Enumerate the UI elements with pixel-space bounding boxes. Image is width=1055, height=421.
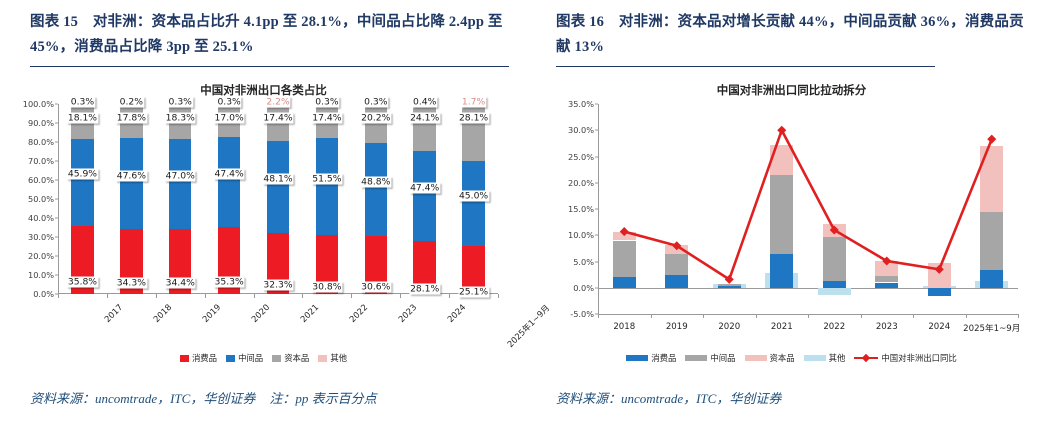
y-axis-tick-label: 25.0% <box>568 152 594 162</box>
legend-item-2: 资本品 <box>745 352 795 364</box>
data-label: 0.3% <box>216 97 241 108</box>
data-label: 17.4% <box>262 113 293 124</box>
exhibit-15-source: 资料来源：uncomtrade，ITC，华创证券注：pp 表示百分点 <box>30 388 377 407</box>
x-axis-tick-mark <box>498 294 499 298</box>
data-label: 34.3% <box>116 278 147 289</box>
y-axis-tick-label: 0.0% <box>33 289 54 299</box>
legend-item-4: 中国对非洲出口同比 <box>854 352 956 364</box>
data-label: 48.8% <box>360 176 391 187</box>
x-axis-tick-mark <box>156 294 157 298</box>
source-note: 注：pp 表示百分点 <box>269 391 376 406</box>
y-axis-tick-label: 30.0% <box>568 125 594 135</box>
x-axis-label: 2017 <box>103 302 125 324</box>
bar-segment-intermediate <box>267 141 289 232</box>
y-axis-tick-mark <box>55 256 58 257</box>
x-axis-label: 2018 <box>613 322 635 332</box>
chart-left-legend: 消费品中间品资本品其他 <box>0 352 527 364</box>
x-axis-tick-mark <box>351 294 352 298</box>
x-axis-label: 2022 <box>347 302 369 324</box>
x-axis-label: 2025年1~9月 <box>963 322 1020 334</box>
y-axis-tick-mark <box>55 161 58 162</box>
legend-item-1: 中间品 <box>685 352 735 364</box>
y-axis-tick-label: 20.0% <box>568 178 594 188</box>
bar-segment-intermediate <box>169 139 191 228</box>
data-label: 47.6% <box>116 170 147 181</box>
x-axis-tick-mark <box>400 294 401 298</box>
bar-column <box>365 104 387 294</box>
chart-right-plot-area: -5.0%0.0%5.0%10.0%15.0%20.0%25.0%30.0%35… <box>598 104 1018 314</box>
y-axis-tick-label: 60.0% <box>28 175 54 185</box>
data-label: 48.1% <box>262 173 293 184</box>
legend-swatch <box>745 355 767 361</box>
y-axis-tick-label: 10.0% <box>568 230 594 240</box>
bar-segment-intermediate <box>413 151 435 241</box>
legend-label: 中国对非洲出口同比 <box>881 352 956 364</box>
chart-left-plot-area: 0.0%10.0%20.0%30.0%40.0%50.0%60.0%70.0%8… <box>58 104 498 294</box>
exhibit-16-title: 图表 16 对非洲：资本品对增长贡献 44%，中间品贡献 36%，消费品贡献 1… <box>556 10 1037 60</box>
exhibit-15-title-rule <box>30 66 509 67</box>
data-label: 51.5% <box>311 173 342 184</box>
x-axis-label: 2019 <box>200 302 222 324</box>
x-axis-tick-mark <box>205 294 206 298</box>
bar-column <box>316 104 338 294</box>
data-label: 35.3% <box>214 277 245 288</box>
exhibit-16-source: 资料来源：uncomtrade，ITC，华创证券 <box>556 388 781 407</box>
exhibit-15-title: 图表 15 对非洲：资本品占比升 4.1pp 至 28.1%，中间品占比降 2.… <box>30 10 509 60</box>
x-axis-tick-mark <box>302 294 303 298</box>
y-axis-tick-label: 70.0% <box>28 156 54 166</box>
y-axis-tick-label: 50.0% <box>28 194 54 204</box>
exhibit-15-panel: 图表 15 对非洲：资本品占比升 4.1pp 至 28.1%，中间品占比降 2.… <box>0 0 527 421</box>
page-root: 图表 15 对非洲：资本品占比升 4.1pp 至 28.1%，中间品占比降 2.… <box>0 0 1055 421</box>
y-axis-tick-label: 0.0% <box>573 283 594 293</box>
data-label: 17.0% <box>214 113 245 124</box>
data-label: 0.2% <box>119 97 144 108</box>
y-axis-tick-mark <box>55 199 58 200</box>
data-label: 17.4% <box>311 113 342 124</box>
bar-segment-intermediate <box>71 139 93 226</box>
data-label: 24.1% <box>409 113 440 124</box>
x-axis-label: 2019 <box>666 322 688 332</box>
x-axis-label: 2020 <box>249 302 271 324</box>
x-axis-tick-mark <box>58 294 59 298</box>
data-label: 35.8% <box>67 276 98 287</box>
line-series-yoy <box>598 104 1018 314</box>
bar-column <box>120 104 142 294</box>
legend-item-3: 其他 <box>804 352 846 364</box>
data-label: 20.2% <box>360 113 391 124</box>
y-axis-tick-label: -5.0% <box>570 309 594 319</box>
legend-swatch <box>626 355 648 361</box>
legend-swatch <box>272 355 281 362</box>
y-axis-tick-label: 30.0% <box>28 232 54 242</box>
data-label: 25.1% <box>458 287 489 298</box>
legend-swatch <box>180 355 189 362</box>
x-axis-tick-mark <box>449 294 450 298</box>
data-label: 34.4% <box>165 278 196 289</box>
bar-column <box>413 104 435 294</box>
data-label: 0.3% <box>168 97 193 108</box>
legend-label: 中间品 <box>238 352 263 364</box>
y-axis-tick-mark <box>55 123 58 124</box>
data-label: 45.0% <box>458 190 489 201</box>
x-axis-label: 2018 <box>152 302 174 324</box>
legend-swatch <box>226 355 235 362</box>
x-axis-tick-mark <box>1018 314 1019 318</box>
legend-label: 其他 <box>829 352 846 364</box>
exhibit-16-title-rule <box>556 66 935 67</box>
legend-item-0: 消费品 <box>180 352 217 364</box>
source-text: 资料来源：uncomtrade，ITC，华创证券 <box>556 391 781 406</box>
y-axis-tick-label: 35.0% <box>568 99 594 109</box>
y-axis-tick-label: 20.0% <box>28 251 54 261</box>
data-label: 30.6% <box>360 281 391 292</box>
bar-segment-capital <box>365 105 387 143</box>
data-label: 28.1% <box>458 113 489 124</box>
data-label: 2.2% <box>265 97 290 108</box>
data-label: 30.8% <box>311 281 342 292</box>
y-axis-tick-mark <box>55 180 58 181</box>
chart-exports-share-africa: 中国对非洲出口各类占比 0.0%10.0%20.0%30.0%40.0%50.0… <box>12 82 515 372</box>
chart-right-legend: 消费品中间品资本品其他中国对非洲出口同比 <box>528 352 1055 364</box>
data-label: 47.4% <box>409 182 440 193</box>
data-label: 18.3% <box>165 113 196 124</box>
source-text: 资料来源：uncomtrade，ITC，华创证券 <box>30 391 255 406</box>
x-axis-tick-mark <box>254 294 255 298</box>
legend-swatch <box>804 355 826 361</box>
y-axis-tick-label: 40.0% <box>28 213 54 223</box>
legend-swatch <box>318 355 327 362</box>
y-axis-tick-label: 10.0% <box>28 270 54 280</box>
data-label: 18.1% <box>67 113 98 124</box>
bar-segment-intermediate <box>316 138 338 236</box>
bar-segment-intermediate <box>462 161 484 247</box>
data-label: 28.1% <box>409 284 440 295</box>
data-label: 17.8% <box>116 113 147 124</box>
legend-line-swatch <box>854 354 878 362</box>
x-axis-label: 2024 <box>928 322 950 332</box>
y-axis-tick-mark <box>55 275 58 276</box>
y-axis-tick-mark <box>55 104 58 105</box>
y-axis-tick-label: 100.0% <box>23 99 54 109</box>
data-label: 45.9% <box>67 169 98 180</box>
data-label: 47.4% <box>214 168 245 179</box>
legend-item-2: 资本品 <box>272 352 309 364</box>
bar-column <box>169 104 191 294</box>
x-axis-label: 2021 <box>298 302 320 324</box>
x-axis-label: 2021 <box>771 322 793 332</box>
x-axis-tick-mark <box>107 294 108 298</box>
legend-item-0: 消费品 <box>626 352 676 364</box>
x-axis-label: 2022 <box>823 322 845 332</box>
bar-segment-intermediate <box>218 137 240 227</box>
data-label: 0.4% <box>412 97 437 108</box>
bar-column <box>71 104 93 294</box>
legend-label: 消费品 <box>651 352 676 364</box>
y-axis-tick-label: 90.0% <box>28 118 54 128</box>
legend-label: 资本品 <box>770 352 795 364</box>
data-label: 47.0% <box>165 170 196 181</box>
legend-label: 中间品 <box>710 352 735 364</box>
y-axis-tick-label: 15.0% <box>568 204 594 214</box>
chart-export-growth-contribution: 中国对非洲出口同比拉动拆分 -5.0%0.0%5.0%10.0%15.0%20.… <box>540 82 1043 372</box>
legend-label: 消费品 <box>192 352 217 364</box>
legend-label: 其他 <box>330 352 347 364</box>
legend-label: 资本品 <box>284 352 309 364</box>
y-axis-tick-label: 5.0% <box>573 257 594 267</box>
data-label: 1.7% <box>461 97 486 108</box>
legend-item-1: 中间品 <box>226 352 263 364</box>
legend-item-3: 其他 <box>318 352 347 364</box>
bar-segment-intermediate <box>365 143 387 236</box>
legend-marker-icon <box>862 354 870 362</box>
x-axis-label: 2023 <box>396 302 418 324</box>
bar-column <box>218 104 240 294</box>
x-axis-label: 2020 <box>718 322 740 332</box>
x-axis-label: 2024 <box>445 302 467 324</box>
x-axis-line <box>598 314 1018 315</box>
legend-swatch <box>685 355 707 361</box>
bar-segment-intermediate <box>120 138 142 228</box>
y-axis-tick-mark <box>55 142 58 143</box>
y-axis-tick-mark <box>55 237 58 238</box>
data-label: 0.3% <box>363 97 388 108</box>
data-label: 32.3% <box>262 280 293 291</box>
y-axis-tick-label: 80.0% <box>28 137 54 147</box>
exhibit-16-panel: 图表 16 对非洲：资本品对增长贡献 44%，中间品贡献 36%，消费品贡献 1… <box>528 0 1055 421</box>
bar-column <box>267 104 289 294</box>
data-label: 0.3% <box>70 97 95 108</box>
chart-right-title: 中国对非洲出口同比拉动拆分 <box>540 82 1043 98</box>
y-axis-tick-mark <box>55 218 58 219</box>
x-axis-label: 2023 <box>876 322 898 332</box>
data-label: 0.3% <box>314 97 339 108</box>
